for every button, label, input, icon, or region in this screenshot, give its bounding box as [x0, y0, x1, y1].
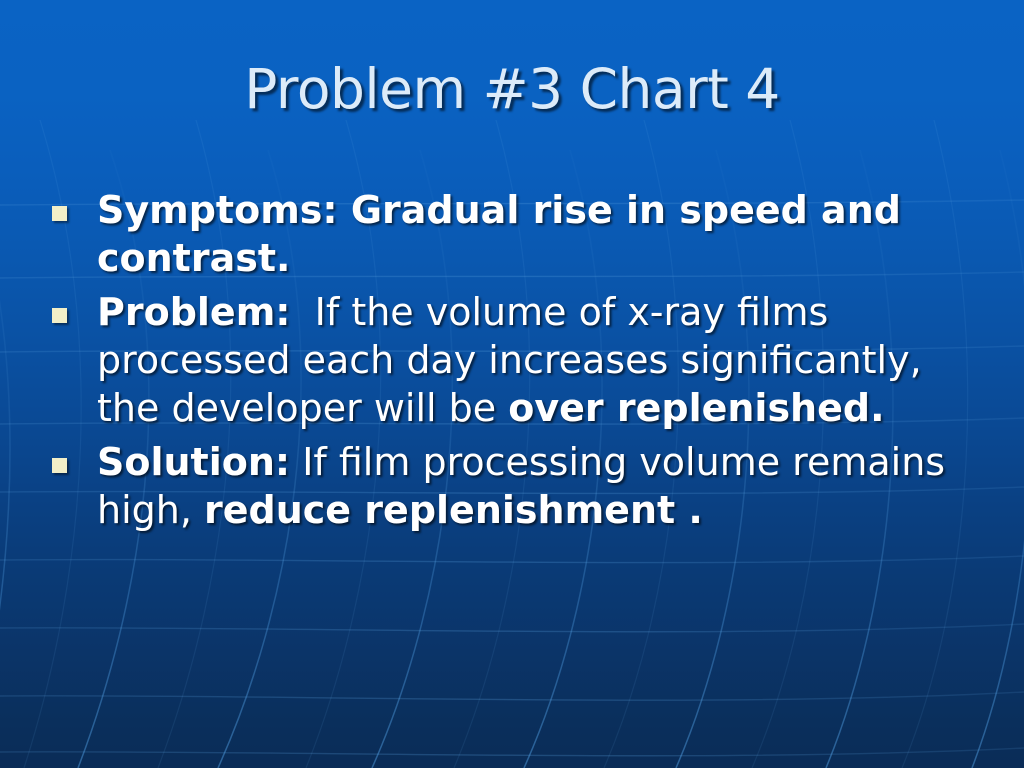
- slide-title: Problem #3 Chart 4: [0, 58, 1024, 120]
- bullet-text-symptoms: Symptoms: Gradual rise in speed and cont…: [67, 186, 982, 282]
- list-item: Solution: If film processing volume rema…: [52, 438, 982, 534]
- square-bullet-icon: [52, 308, 67, 323]
- bullet-run: Problem:: [97, 290, 291, 334]
- bullet-run: reduce replenishment .: [204, 488, 703, 532]
- bullet-text-problem: Problem: If the volume of x-ray films pr…: [67, 288, 982, 432]
- bullet-run: Solution:: [97, 440, 290, 484]
- bullet-run: over replenished.: [508, 386, 884, 430]
- bullet-run: Symptoms: Gradual rise in speed and cont…: [97, 188, 914, 280]
- list-item: Symptoms: Gradual rise in speed and cont…: [52, 186, 982, 282]
- square-bullet-icon: [52, 458, 67, 473]
- bullet-list: Symptoms: Gradual rise in speed and cont…: [52, 186, 982, 540]
- bullet-text-solution: Solution: If film processing volume rema…: [67, 438, 982, 534]
- list-item: Problem: If the volume of x-ray films pr…: [52, 288, 982, 432]
- square-bullet-icon: [52, 206, 67, 221]
- presentation-slide: Problem #3 Chart 4 Symptoms: Gradual ris…: [0, 0, 1024, 768]
